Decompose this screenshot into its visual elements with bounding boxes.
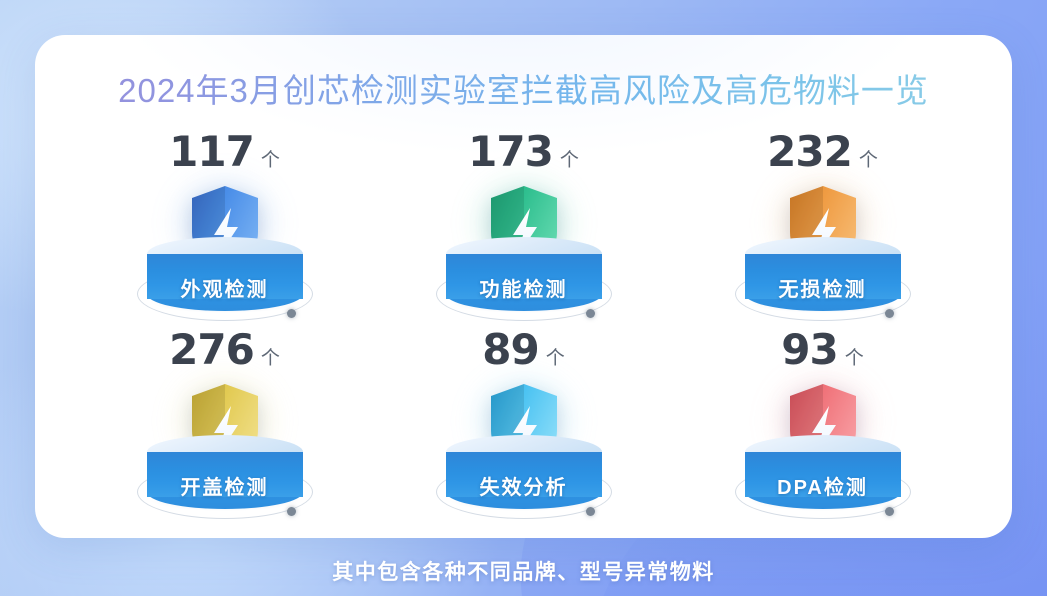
- stat-number: 232: [767, 131, 852, 173]
- stat-visual: 功能检测: [431, 183, 617, 323]
- orbit-dot: [287, 309, 296, 318]
- stat-item[interactable]: 276个开盖检测: [75, 329, 374, 527]
- stat-label: 外观检测: [147, 273, 303, 302]
- main-card: 2024年3月创芯检测实验室拦截高风险及高危物料一览 117个外观检测173个功…: [35, 35, 1012, 538]
- stat-unit: 个: [261, 151, 280, 170]
- stat-label: 无损检测: [745, 273, 901, 302]
- pedestal: 失效分析: [446, 435, 602, 507]
- page-title: 2024年3月创芯检测实验室拦截高风险及高危物料一览: [35, 71, 1012, 111]
- stat-number: 89: [482, 329, 538, 371]
- footer-caption: 其中包含各种不同品牌、型号异常物料: [0, 556, 1047, 586]
- orbit-dot: [586, 507, 595, 516]
- stat-unit: 个: [546, 349, 565, 368]
- stats-grid: 117个外观检测173个功能检测232个无损检测276个开盖检测89个失效分析9…: [35, 131, 1012, 527]
- stat-item[interactable]: 232个无损检测: [673, 131, 972, 329]
- stat-label: 功能检测: [446, 273, 602, 302]
- stat-item[interactable]: 117个外观检测: [75, 131, 374, 329]
- stat-visual: 无损检测: [730, 183, 916, 323]
- stat-item[interactable]: 173个功能检测: [374, 131, 673, 329]
- stat-item[interactable]: 89个失效分析: [374, 329, 673, 527]
- stat-number: 117: [169, 131, 254, 173]
- stat-visual: DPA检测: [730, 381, 916, 521]
- stat-unit: 个: [845, 349, 864, 368]
- stat-label: 开盖检测: [147, 471, 303, 500]
- pedestal: 开盖检测: [147, 435, 303, 507]
- pedestal: 外观检测: [147, 237, 303, 309]
- stat-label: DPA检测: [745, 471, 901, 500]
- pedestal: 无损检测: [745, 237, 901, 309]
- stat-item[interactable]: 93个DPA检测: [673, 329, 972, 527]
- stat-number: 93: [781, 329, 837, 371]
- stat-number: 173: [468, 131, 553, 173]
- stat-visual: 外观检测: [132, 183, 318, 323]
- stat-unit: 个: [560, 151, 579, 170]
- stat-unit: 个: [859, 151, 878, 170]
- pedestal: DPA检测: [745, 435, 901, 507]
- orbit-dot: [885, 507, 894, 516]
- pedestal: 功能检测: [446, 237, 602, 309]
- stat-visual: 失效分析: [431, 381, 617, 521]
- stat-label: 失效分析: [446, 471, 602, 500]
- stat-visual: 开盖检测: [132, 381, 318, 521]
- stat-unit: 个: [261, 349, 280, 368]
- orbit-dot: [586, 309, 595, 318]
- orbit-dot: [287, 507, 296, 516]
- orbit-dot: [885, 309, 894, 318]
- stat-number: 276: [169, 329, 254, 371]
